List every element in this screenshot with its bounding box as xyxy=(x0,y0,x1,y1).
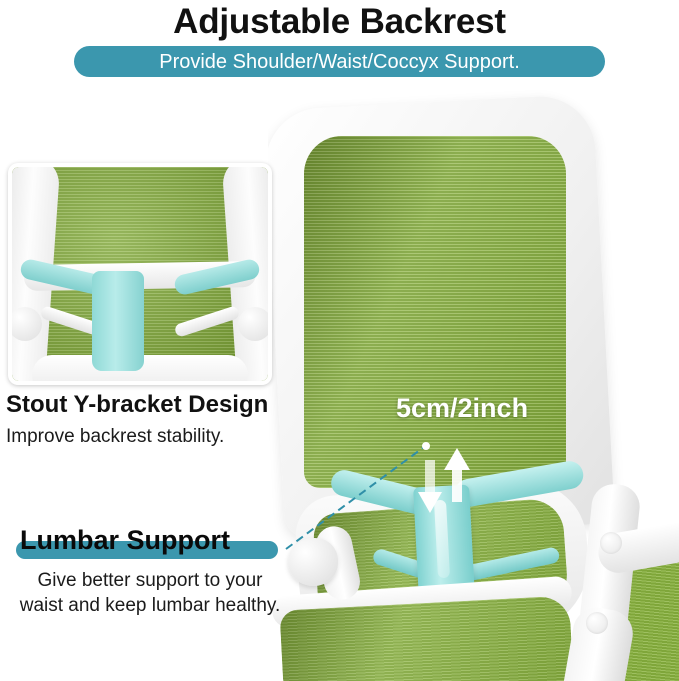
subtitle-text: Provide Shoulder/Waist/Coccyx Support. xyxy=(159,52,520,72)
arrow-up-stem xyxy=(452,468,462,502)
armrest-screw-cap-bottom xyxy=(586,612,608,634)
arrow-down-icon xyxy=(418,492,442,513)
inset-pivot-knob-right xyxy=(238,307,268,341)
main-chair-image: 5cm/2inch xyxy=(268,88,679,681)
product-infographic: Adjustable Backrest Provide Shoulder/Wai… xyxy=(0,0,679,681)
mesh-sheen xyxy=(304,136,566,488)
arrow-down-stem xyxy=(425,460,435,494)
arrow-up-icon xyxy=(444,448,470,470)
feature-body-line-1: Give better support to your xyxy=(0,568,300,593)
inset-closeup-panel xyxy=(8,163,272,385)
subtitle-pill: Provide Shoulder/Waist/Coccyx Support. xyxy=(74,46,605,77)
feature-body-line-2: waist and keep lumbar healthy. xyxy=(0,593,300,618)
feature-heading-lumbar-support-wrap: Lumbar Support xyxy=(14,524,282,558)
backrest-mesh-panel xyxy=(304,136,566,488)
feature-heading-lumbar-support: Lumbar Support xyxy=(20,524,230,556)
page-title: Adjustable Backrest xyxy=(0,2,679,42)
inset-y-bracket-stem xyxy=(92,271,144,371)
armrest-screw-cap-top xyxy=(600,532,622,554)
feature-heading-stout-y-bracket: Stout Y-bracket Design xyxy=(6,391,268,419)
mesh-sheen xyxy=(279,595,574,681)
seat-mesh-panel xyxy=(279,595,574,681)
feature-body-lumbar-support: Give better support to your waist and ke… xyxy=(0,568,300,618)
inset-closeup-image xyxy=(12,167,268,381)
feature-body-stout-y-bracket: Improve backrest stability. xyxy=(6,425,224,449)
adjustment-range-label: 5cm/2inch xyxy=(396,393,528,424)
